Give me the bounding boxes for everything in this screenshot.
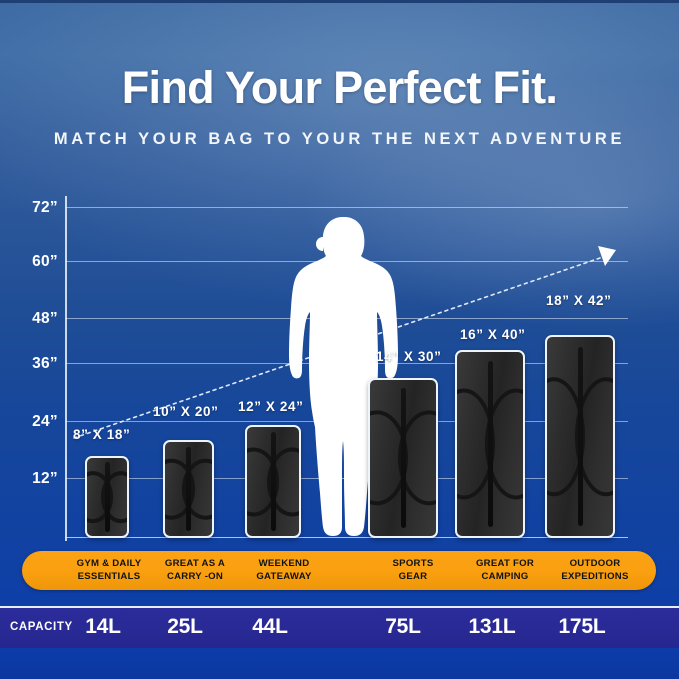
capacity-label: CAPACITY	[10, 621, 73, 633]
bag-strap	[271, 432, 276, 530]
bag-strap	[401, 388, 406, 528]
y-tick-48: 48”	[2, 310, 58, 328]
bag-strap	[488, 361, 493, 527]
use-case-6[interactable]: OUTDOOR EXPEDITIONS	[536, 557, 654, 583]
capacity-value-3: 44L	[235, 615, 305, 639]
bag-size-label-4: 14” X 30”	[376, 349, 441, 364]
capacity-value-5: 131L	[453, 615, 531, 639]
use-case-6-line2: EXPEDITIONS	[536, 570, 654, 583]
bag-size-label-2: 10” X 20”	[153, 404, 218, 419]
use-case-6-line1: OUTDOOR	[536, 557, 654, 570]
use-case-3[interactable]: WEEKEND GATEAWAY	[225, 557, 343, 583]
bag-6[interactable]	[545, 335, 615, 538]
y-tick-24: 24”	[2, 413, 58, 431]
y-tick-36: 36”	[2, 355, 58, 373]
bag-size-label-1: 8” X 18”	[73, 427, 130, 442]
capacity-value-4: 75L	[368, 615, 438, 639]
y-tick-12: 12”	[2, 470, 58, 488]
bag-4[interactable]	[368, 378, 438, 538]
use-case-3-line1: WEEKEND	[225, 557, 343, 570]
capacity-value-1: 14L	[68, 615, 138, 639]
use-case-band: GYM & DAILY ESSENTIALS GREAT AS A CARRY …	[22, 551, 656, 590]
bag-strap	[105, 462, 110, 532]
use-case-3-line2: GATEAWAY	[225, 570, 343, 583]
page-subtitle: MATCH YOUR BAG TO YOUR THE NEXT ADVENTUR…	[0, 130, 679, 149]
capacity-value-6: 175L	[543, 615, 621, 639]
bag-1[interactable]	[85, 456, 129, 538]
bag-strap	[578, 347, 583, 526]
capacity-band: CAPACITY 14L 25L 44L 75L 131L 175L	[0, 606, 679, 650]
bottom-fill	[0, 648, 679, 679]
gridline-72	[65, 207, 628, 208]
bag-2[interactable]	[163, 440, 214, 538]
infographic-canvas: Find Your Perfect Fit. MATCH YOUR BAG TO…	[0, 0, 679, 679]
bag-5[interactable]	[455, 350, 525, 538]
y-tick-60: 60”	[2, 253, 58, 271]
page-title: Find Your Perfect Fit.	[0, 62, 679, 114]
bag-3[interactable]	[245, 425, 301, 538]
capacity-value-2: 25L	[150, 615, 220, 639]
bag-size-label-3: 12” X 24”	[238, 399, 303, 414]
bag-strap	[186, 447, 191, 532]
bag-size-label-5: 16” X 40”	[460, 327, 525, 342]
y-tick-72: 72”	[2, 199, 58, 217]
bag-size-label-6: 18” X 42”	[546, 293, 611, 308]
top-border	[0, 0, 679, 3]
